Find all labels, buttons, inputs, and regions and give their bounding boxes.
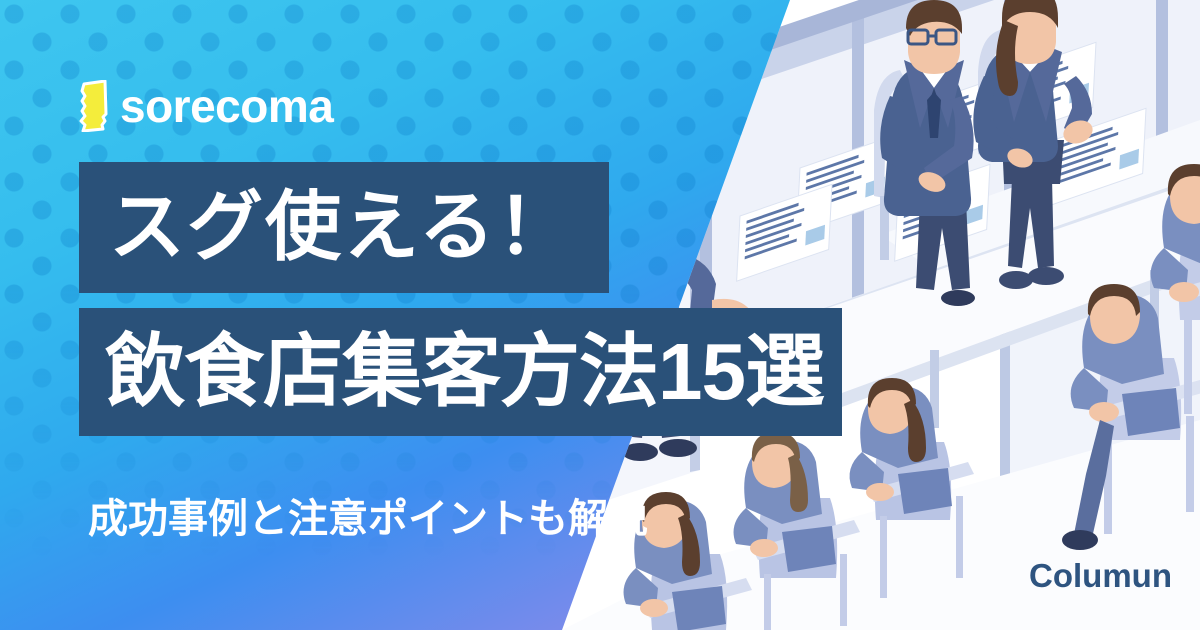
columun-label: Columun	[1029, 559, 1172, 592]
thumbnail-canvas: sorecoma スグ使える！ 飲食店集客方法15選 成功事例と注意ポイントも解…	[0, 0, 1200, 630]
subtitle-text: 成功事例と注意ポイントも解説	[88, 499, 648, 539]
title-bar-line-1: スグ使える！	[79, 162, 609, 293]
title-line-2-text: 飲食店集客方法15選	[105, 332, 824, 412]
brand-logo[interactable]: sorecoma	[79, 80, 333, 132]
sorecoma-yellow-tag-icon	[79, 80, 109, 132]
title-bar-line-2: 飲食店集客方法15選	[79, 308, 842, 436]
title-line-1-text: スグ使える！	[109, 190, 575, 266]
logo-wordmark: sorecoma	[120, 83, 333, 129]
